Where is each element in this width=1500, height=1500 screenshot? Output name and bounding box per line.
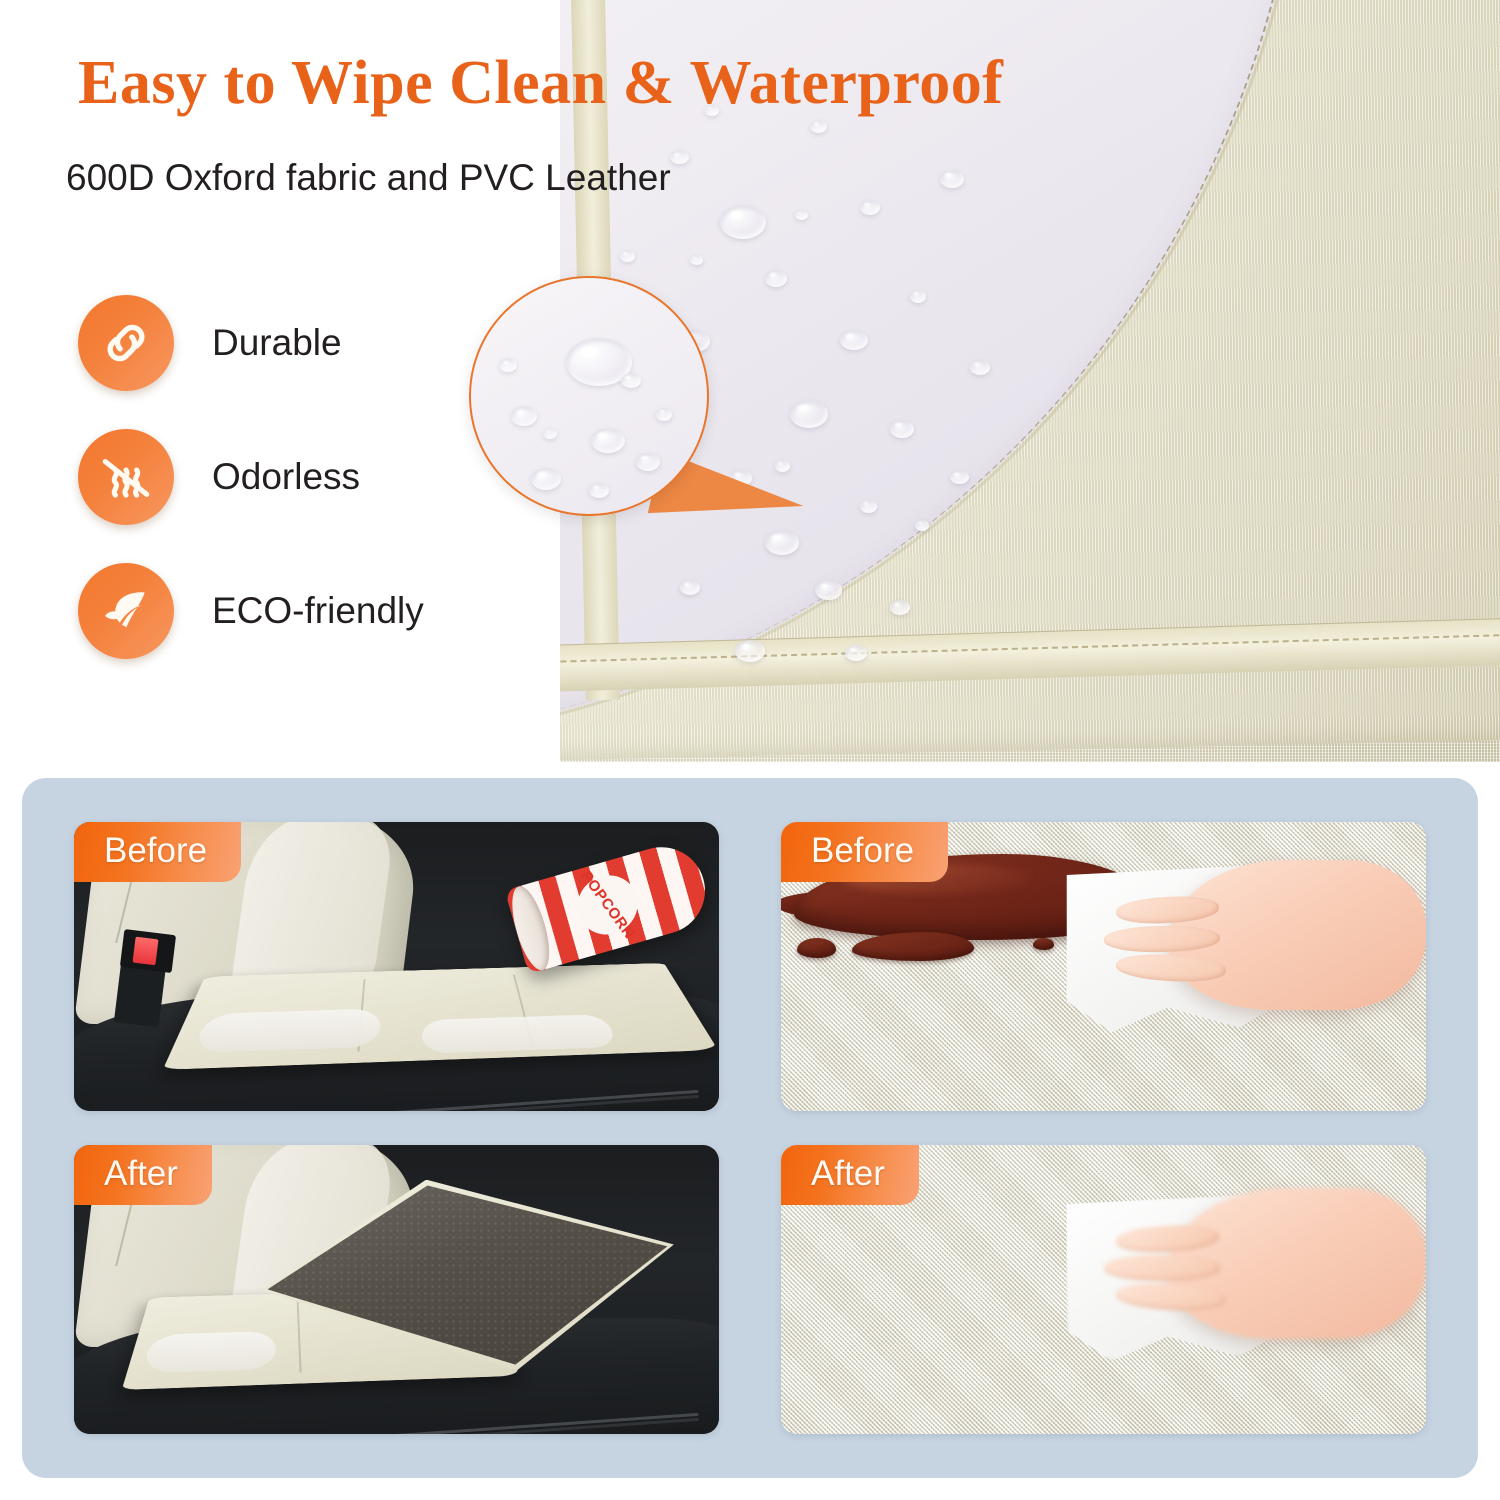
card-coffee-after: After	[781, 1145, 1426, 1434]
mat-cushion-pad	[192, 1008, 381, 1053]
infographic-root: Easy to Wipe Clean & Waterproof 600D Oxf…	[0, 0, 1500, 1500]
popcorn-bucket-rim	[504, 883, 556, 974]
status-badge-after: After	[781, 1145, 919, 1205]
water-droplet	[795, 210, 808, 220]
magnified-water-droplet	[511, 406, 537, 426]
water-droplet	[970, 360, 990, 375]
leaf-icon	[78, 563, 174, 659]
popcorn-bucket: POP CORN	[504, 837, 714, 974]
status-badge-before: Before	[781, 822, 948, 882]
status-badge-before: Before	[74, 822, 241, 882]
status-badge-after: After	[74, 1145, 212, 1205]
mat-cushion-pad	[142, 1331, 276, 1374]
magnified-water-droplet	[636, 453, 660, 471]
water-droplet	[810, 120, 827, 133]
water-droplet	[620, 250, 635, 262]
water-droplet	[915, 520, 929, 531]
water-droplet	[860, 500, 877, 513]
magnifier-contents	[471, 278, 707, 514]
card-coffee-before: Before	[781, 822, 1426, 1111]
water-droplet	[860, 200, 880, 215]
feature-list: Durable Odorless	[78, 276, 424, 678]
coffee-droplet	[1033, 938, 1055, 951]
seat-base-seam	[294, 1090, 698, 1111]
before-after-comparison-panel: POP CORN Before	[22, 778, 1478, 1478]
water-droplet	[720, 205, 766, 239]
finger	[1104, 1255, 1220, 1281]
popcorn-bucket-label: POP CORN	[566, 864, 649, 947]
card-popcorn-after: After	[74, 1145, 719, 1434]
waterproof-zoom-circle	[469, 276, 709, 516]
magnified-water-droplet	[656, 408, 672, 421]
odor-waves-icon	[78, 429, 174, 525]
seatbelt-release-button	[132, 936, 158, 965]
page-title: Easy to Wipe Clean & Waterproof	[78, 48, 1003, 119]
seat-base-seam	[294, 1413, 698, 1434]
water-droplet	[735, 640, 765, 662]
water-droplet	[765, 270, 787, 287]
mat-seam	[296, 1300, 301, 1372]
feature-item-eco-friendly: ECO-friendly	[78, 544, 424, 678]
water-droplet	[680, 580, 700, 595]
magnified-water-droplet	[499, 358, 517, 372]
comparison-grid: POP CORN Before	[22, 778, 1478, 1478]
water-droplet	[840, 330, 868, 350]
water-droplet	[845, 645, 867, 661]
magnified-water-droplet	[589, 483, 609, 498]
mat-cushion-pad	[422, 1014, 619, 1054]
water-droplet	[670, 150, 689, 164]
water-droplet	[950, 470, 969, 484]
water-droplet	[775, 460, 790, 472]
water-droplet	[890, 420, 914, 438]
water-droplet	[890, 600, 910, 615]
page-subtitle: 600D Oxford fabric and PVC Leather	[66, 157, 671, 199]
water-droplet	[940, 170, 964, 188]
card-popcorn-before: POP CORN Before	[74, 822, 719, 1111]
feature-label: Durable	[212, 322, 342, 364]
water-droplet	[790, 400, 828, 428]
feature-item-odorless: Odorless	[78, 410, 424, 544]
magnified-water-droplet	[531, 468, 561, 490]
feature-item-durable: Durable	[78, 276, 424, 410]
chain-link-icon	[78, 295, 174, 391]
magnified-water-droplet	[591, 428, 625, 453]
popcorn-label-line2: CORN	[597, 896, 637, 942]
magnified-water-droplet	[621, 373, 641, 388]
feature-label: Odorless	[212, 456, 360, 498]
water-droplet	[910, 290, 926, 303]
water-droplet	[690, 255, 703, 265]
water-droplet	[815, 580, 842, 600]
feature-label: ECO-friendly	[212, 590, 424, 632]
magnified-water-droplet	[543, 428, 557, 439]
hero-section: Easy to Wipe Clean & Waterproof 600D Oxf…	[0, 0, 1500, 762]
coffee-droplet	[797, 938, 836, 958]
